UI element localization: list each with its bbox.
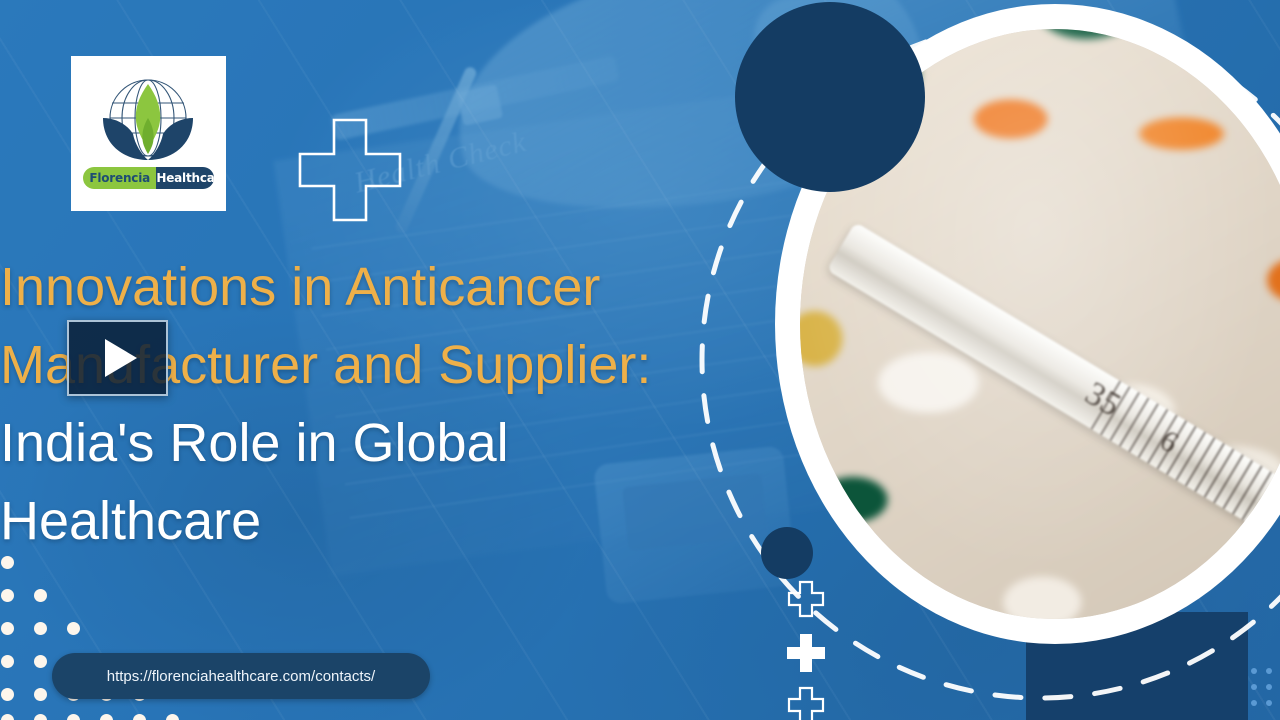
logo-wordmark: Florencia Healthcare [83, 167, 214, 189]
medical-cross-filled-icon [785, 632, 827, 674]
play-button[interactable] [67, 320, 168, 396]
url-text: https://florenciahealthcare.com/contacts… [107, 668, 375, 685]
navy-circle-small [761, 527, 813, 579]
medical-cross-outline-icon [787, 580, 825, 618]
page-title: Innovations in Anticancer Manufacturer a… [0, 248, 700, 560]
medical-cross-outline-icon [787, 686, 825, 720]
logo-word-florencia: Florencia [83, 167, 156, 189]
title-line-4: Healthcare [0, 482, 700, 560]
title-line-3: India's Role in Global [0, 404, 700, 482]
play-icon [105, 339, 137, 377]
medical-cross-outline-icon [297, 117, 403, 223]
logo-word-healthcare: Healthcare [156, 167, 214, 189]
presentation-slide: Health Check 35 6 [0, 0, 1280, 720]
url-badge[interactable]: https://florenciahealthcare.com/contacts… [52, 653, 430, 699]
title-line-1: Innovations in Anticancer [0, 248, 700, 326]
navy-circle-large [735, 2, 925, 192]
florencia-healthcare-logo[interactable]: Florencia Healthcare [71, 56, 226, 211]
